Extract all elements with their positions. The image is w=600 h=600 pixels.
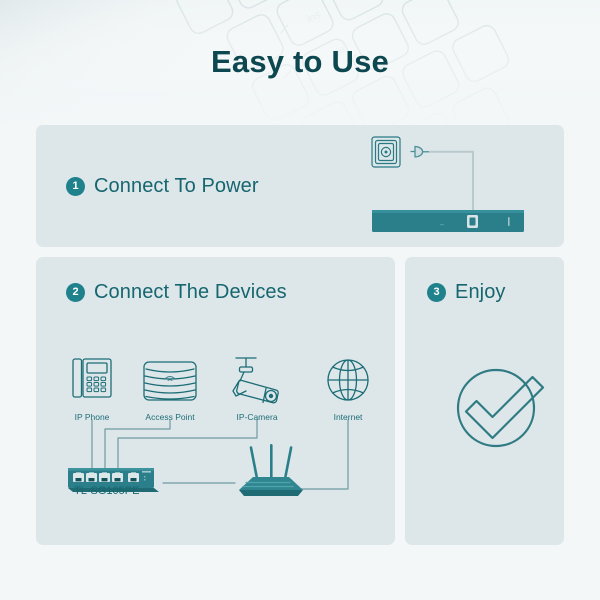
switch-model-label: TL-SG105PE — [74, 485, 139, 497]
device-label-internet: Internet — [334, 412, 363, 422]
ip-camera-icon — [233, 358, 278, 403]
page-title: Easy to Use — [0, 44, 600, 80]
enjoy-illustration — [443, 352, 555, 464]
network-topology-diagram: IP Phone Access Point IP-Camera Internet… — [50, 350, 390, 510]
check-circle-icon — [458, 370, 543, 446]
step-title: Connect The Devices — [94, 281, 287, 304]
step-1-header: 1 Connect To Power — [66, 175, 259, 198]
device-label-ip-phone: IP Phone — [75, 412, 110, 422]
power-cable-line — [430, 152, 473, 210]
device-label-access-point: Access Point — [145, 412, 194, 422]
access-point-icon — [144, 362, 196, 400]
step-number-badge: 3 — [427, 283, 446, 302]
step-number-badge: 1 — [66, 177, 85, 196]
step-2-header: 2 Connect The Devices — [66, 281, 287, 304]
step-number-badge: 2 — [66, 283, 85, 302]
power-plug-icon — [411, 147, 431, 157]
step-title: Connect To Power — [94, 175, 259, 198]
wall-outlet-icon — [372, 137, 400, 167]
ip-phone-icon — [73, 359, 111, 397]
svg-text:ins: ins — [305, 8, 323, 25]
step-3-header: 3 Enjoy — [427, 281, 506, 304]
connect-to-power-illustration — [360, 132, 535, 237]
wireless-router-icon — [239, 444, 303, 496]
network-switch-icon — [372, 210, 524, 232]
internet-globe-icon — [328, 360, 368, 400]
device-label-ip-camera: IP-Camera — [236, 412, 277, 422]
step-title: Enjoy — [455, 281, 506, 304]
